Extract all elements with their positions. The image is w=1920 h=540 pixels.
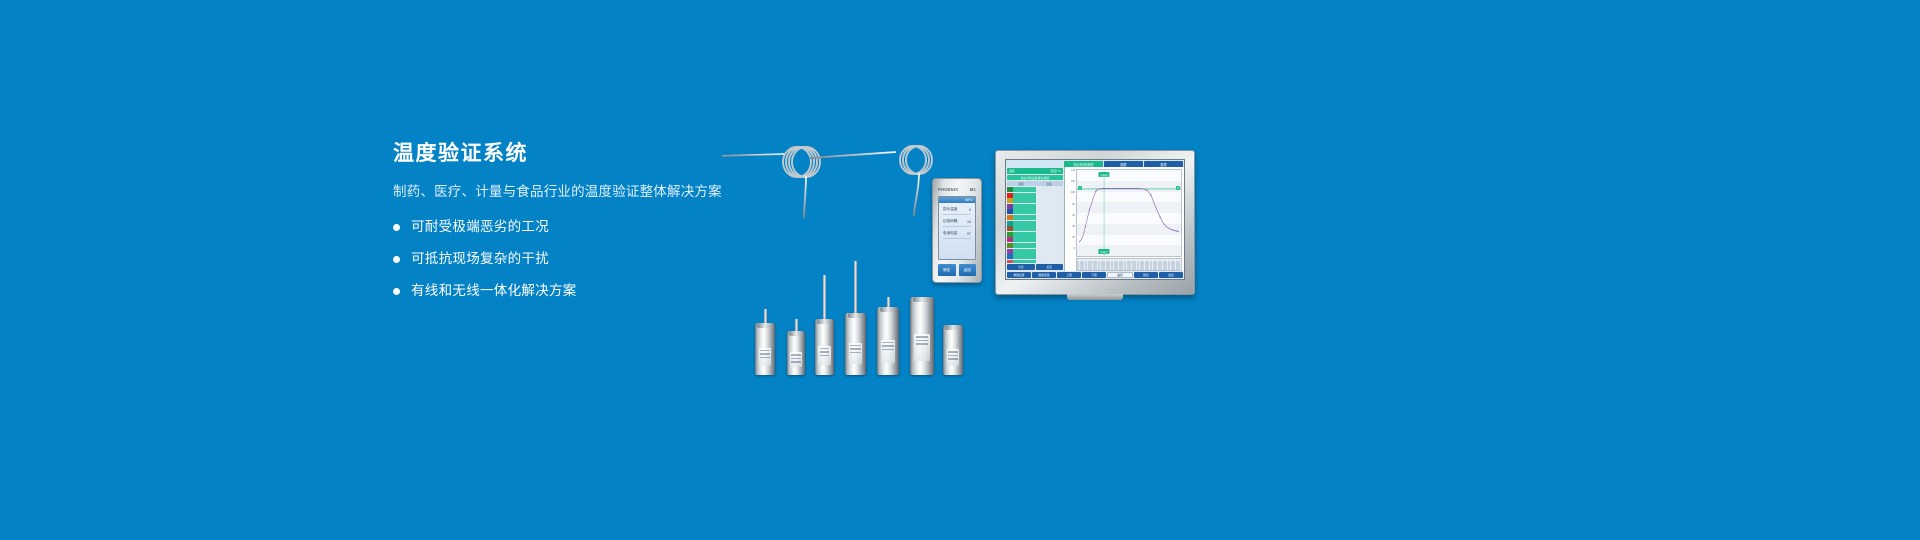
table-row — [1007, 193, 1063, 198]
logger-cap — [848, 313, 864, 318]
y-tick: 60 — [1072, 215, 1075, 218]
table-row — [1007, 198, 1063, 203]
y-tick: 120 — [1071, 181, 1075, 184]
table-row — [1007, 215, 1063, 220]
curve-svg — [1077, 170, 1181, 256]
limit-pin-left: A — [1078, 186, 1082, 190]
data-logger — [755, 323, 775, 375]
probe-stem — [854, 261, 857, 313]
reader-titlebar: INFO — [939, 197, 975, 203]
logger-label — [759, 348, 772, 366]
y-tick: 140 — [1071, 170, 1075, 173]
hero-banner: 温度验证系统 制药、医疗、计量与食品行业的温度验证整体解决方案 可耐受极端恶劣的… — [0, 0, 1920, 540]
y-tick: 40 — [1072, 226, 1075, 229]
sidebar-header-value: 温度(℃) — [1050, 169, 1061, 173]
probe-stem — [887, 297, 890, 307]
data-logger — [877, 307, 899, 375]
button-curve: 曲线 — [1107, 272, 1133, 278]
reader-row-value: 97 — [967, 232, 971, 236]
feature-label: 有线和无线一体化解决方案 — [411, 282, 577, 300]
software-toolbar: 参数设置 数据采集 上限 下限 曲线 报表 退出 — [1006, 271, 1184, 279]
y-tick: 0 — [1074, 248, 1075, 251]
reader-status-label: INFO — [965, 198, 973, 202]
reader-brand-row: PHOENIX M1 — [938, 186, 976, 192]
tabbar-spacer — [1006, 160, 1064, 167]
feature-label: 可抵抗现场复杂的干扰 — [411, 250, 549, 268]
feature-label: 可耐受极端恶劣的工况 — [411, 218, 549, 236]
data-logger — [910, 297, 934, 375]
reader-row-label: 记录间隔 — [943, 219, 957, 224]
logger-cap — [913, 297, 931, 302]
logger-label — [818, 346, 830, 365]
button-lower-limit: 下限 — [1082, 272, 1106, 278]
reader-row-value: 10 — [967, 220, 971, 224]
logger-cap — [945, 325, 960, 330]
handheld-reader: PHOENIX M1 INFO 探头温度 0 记录间隔 10 — [932, 178, 982, 283]
data-logger-row — [755, 195, 1035, 375]
reader-row-label: 探头温度 — [943, 207, 957, 212]
sidebar-footer-buttons: 全选 反选 — [1007, 264, 1063, 270]
table-row — [1007, 243, 1063, 248]
table-row — [1007, 187, 1063, 192]
button-exit: 退出 — [1159, 272, 1183, 278]
panel-pc-bezel: 热分布/热穿透 图表 报表 通道 温度(℃) 验证方案/设备/批次/通道 — [995, 150, 1195, 295]
plot-wrapper: 140 120 100 80 60 40 20 0 — [1065, 167, 1184, 257]
logger-label — [947, 349, 960, 366]
reader-shell: PHOENIX M1 INFO 探头温度 0 记录间隔 10 — [932, 178, 982, 283]
data-logger — [943, 325, 963, 375]
data-logger — [787, 331, 805, 375]
reader-key-confirm: 确定 — [938, 264, 956, 276]
sidebar-header: 通道 温度(℃) — [1007, 168, 1063, 174]
probe-stem — [795, 319, 798, 331]
y-tick: 80 — [1072, 204, 1075, 207]
table-row — [1007, 254, 1063, 259]
button-data-acquisition: 数据采集 — [1032, 272, 1056, 278]
logger-label — [790, 352, 802, 367]
logger-cap — [789, 331, 803, 336]
logger-cap — [757, 323, 772, 328]
y-tick: 20 — [1072, 237, 1075, 240]
bullet-dot-icon — [393, 256, 400, 263]
reader-row-value: 0 — [969, 208, 971, 212]
reader-data-row: 电池电量 97 — [943, 231, 971, 239]
select-all-button: 全选 — [1007, 264, 1035, 270]
probe-stem — [823, 275, 826, 319]
sidebar-header-label: 通道 — [1009, 169, 1015, 173]
table-row — [1007, 232, 1063, 237]
y-axis-ticks: 140 120 100 80 60 40 20 0 — [1067, 169, 1076, 257]
button-upper-limit: 上限 — [1057, 272, 1081, 278]
reader-brand-label: PHOENIX — [938, 187, 958, 192]
logger-body — [787, 331, 805, 375]
table-row — [1007, 209, 1063, 214]
reader-row-label: 电池电量 — [943, 231, 957, 236]
limit-pin-right: B — [1176, 186, 1180, 190]
logger-body — [943, 325, 963, 375]
temperature-curve-plot: 光标线 时间点 A B — [1076, 169, 1182, 257]
reader-lcd-screen: INFO 探头温度 0 记录间隔 10 电池电量 97 — [938, 196, 976, 260]
x-axis-scroll-strip — [1076, 258, 1182, 271]
table-row — [1007, 249, 1063, 254]
channel-sidebar: 通道 温度(℃) 验证方案/设备/批次/通道 通道 温度 — [1006, 167, 1065, 271]
button-parameter-settings: 参数设置 — [1007, 272, 1031, 278]
channel-list — [1007, 187, 1063, 263]
cursor-label-top: 光标线 — [1098, 172, 1109, 177]
software-body: 通道 温度(℃) 验证方案/设备/批次/通道 通道 温度 — [1006, 167, 1184, 271]
logger-label — [914, 334, 929, 361]
table-row — [1007, 221, 1063, 226]
table-row — [1007, 237, 1063, 242]
logger-cap — [880, 307, 897, 312]
button-report: 报表 — [1134, 272, 1158, 278]
table-row — [1007, 226, 1063, 231]
panel-pc-stand — [1067, 294, 1123, 300]
reader-keypad: 确定 返回 — [938, 264, 976, 276]
sidebar-column-headers: 通道 温度 — [1007, 181, 1063, 186]
cursor-label-bottom: 时间点 — [1098, 249, 1109, 254]
reader-data-row: 记录间隔 10 — [943, 219, 971, 227]
logger-label — [881, 340, 895, 363]
logger-body — [815, 319, 834, 375]
bullet-dot-icon — [393, 224, 400, 231]
logger-label — [849, 343, 862, 364]
product-photo: PHOENIX M1 INFO 探头温度 0 记录间隔 10 — [700, 110, 1260, 330]
sidebar-subheader: 验证方案/设备/批次/通道 — [1007, 175, 1063, 180]
data-logger — [845, 313, 866, 375]
logger-body — [845, 313, 866, 375]
invert-selection-button: 反选 — [1036, 264, 1064, 270]
chart-panel: 140 120 100 80 60 40 20 0 — [1065, 167, 1184, 271]
logger-cap — [817, 319, 831, 324]
validation-software-screen: 热分布/热穿透 图表 报表 通道 温度(℃) 验证方案/设备/批次/通道 — [1005, 159, 1185, 280]
table-row — [1007, 260, 1063, 263]
reader-model-label: M1 — [970, 187, 976, 192]
reader-data-row: 探头温度 0 — [943, 207, 971, 215]
reader-key-back: 返回 — [959, 264, 977, 276]
y-tick: 100 — [1071, 192, 1075, 195]
logger-body — [755, 323, 775, 375]
bullet-dot-icon — [393, 288, 400, 295]
column-header-channel: 通道 — [1007, 182, 1035, 186]
table-row — [1007, 204, 1063, 209]
software-tabbar: 热分布/热穿透 图表 报表 — [1006, 160, 1184, 167]
column-header-temperature: 温度 — [1035, 182, 1063, 186]
probe-stem — [764, 309, 767, 323]
data-logger — [815, 319, 834, 375]
panel-pc: PHOENIX 热分布/热穿透 图表 报表 通道 温度(℃) — [995, 150, 1195, 295]
logger-body — [910, 297, 934, 375]
logger-body — [877, 307, 899, 375]
